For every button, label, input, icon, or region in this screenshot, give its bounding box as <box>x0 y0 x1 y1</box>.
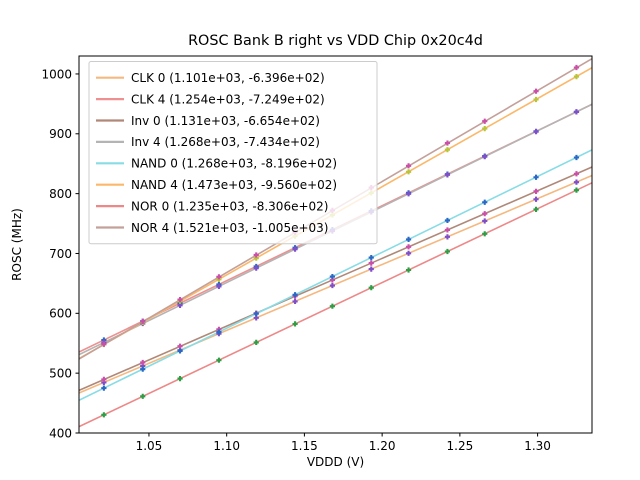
y-tick-label: 400 <box>49 426 72 440</box>
y-tick-label: 1000 <box>41 67 72 81</box>
chart-legend[interactable]: CLK 0 (1.101e+03, -6.396e+02)CLK 4 (1.25… <box>89 62 377 244</box>
x-tick-label: 1.20 <box>369 439 396 453</box>
legend-label: NAND 4 (1.473e+03, -9.560e+02) <box>131 178 337 192</box>
x-tick-label: 1.10 <box>213 439 240 453</box>
x-tick-label: 1.30 <box>524 439 551 453</box>
matplotlib-figure: ROSC Bank B right vs VDD Chip 0x20c4d 1.… <box>0 0 640 480</box>
chart-canvas: ROSC Bank B right vs VDD Chip 0x20c4d 1.… <box>0 0 640 480</box>
chart-title: ROSC Bank B right vs VDD Chip 0x20c4d <box>188 33 483 49</box>
legend-label: CLK 4 (1.254e+03, -7.249e+02) <box>131 92 325 106</box>
legend-label: Inv 4 (1.268e+03, -7.434e+02) <box>131 135 320 149</box>
y-tick-label: 900 <box>49 127 72 141</box>
legend-label: CLK 0 (1.101e+03, -6.396e+02) <box>131 71 325 85</box>
y-tick-label: 800 <box>49 187 72 201</box>
legend-label: NOR 4 (1.521e+03, -1.005e+03) <box>131 221 328 235</box>
y-tick-label: 500 <box>49 366 72 380</box>
legend-frame <box>89 62 377 244</box>
y-axis-label: ROSC (MHz) <box>10 208 24 281</box>
legend-label: NOR 0 (1.235e+03, -8.306e+02) <box>131 199 328 213</box>
legend-label: Inv 0 (1.131e+03, -6.654e+02) <box>131 114 320 128</box>
x-tick-label: 1.25 <box>447 439 474 453</box>
x-axis-label: VDDD (V) <box>307 455 364 469</box>
legend-label: NAND 0 (1.268e+03, -8.196e+02) <box>131 157 337 171</box>
x-tick-label: 1.15 <box>291 439 318 453</box>
y-tick-label: 700 <box>49 247 72 261</box>
y-tick-label: 600 <box>49 307 72 321</box>
x-tick-label: 1.05 <box>136 439 163 453</box>
